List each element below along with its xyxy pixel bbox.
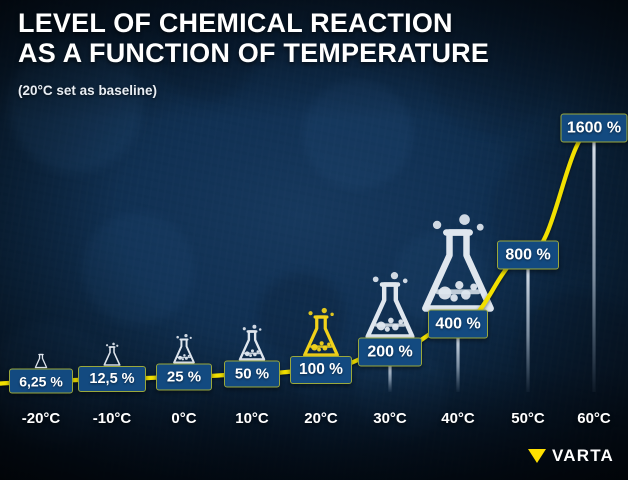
value-badge-label: 50 %	[235, 366, 269, 383]
flask-icon	[240, 325, 264, 360]
triangle-down-icon	[528, 449, 546, 463]
value-badge-label: 6,25 %	[19, 373, 63, 389]
brand-name: VARTA	[552, 446, 614, 466]
value-badge[interactable]: 400 %	[428, 310, 488, 339]
flask-icon	[104, 343, 119, 365]
axis-tick-label: -20°C	[22, 410, 61, 427]
value-badge-label: 100 %	[299, 361, 343, 379]
value-badge-label: 1600 %	[567, 119, 621, 137]
badge-stem	[592, 140, 595, 393]
badge-stem	[388, 364, 391, 393]
value-badge[interactable]: 100 %	[290, 356, 352, 384]
value-badge[interactable]: 25 %	[156, 364, 212, 391]
varta-logo[interactable]: VARTA	[528, 446, 614, 466]
axis-tick-label: 10°C	[235, 410, 269, 427]
value-badge[interactable]: 1600 %	[561, 114, 628, 143]
badge-stem	[456, 336, 459, 393]
flask-icon	[174, 334, 194, 363]
value-badge-label: 12,5 %	[89, 371, 134, 387]
value-badge-label: 400 %	[435, 315, 480, 333]
axis-tick-label: 60°C	[577, 410, 611, 427]
axis-tick-label: 40°C	[441, 410, 475, 427]
value-badge[interactable]: 12,5 %	[78, 366, 146, 392]
axis-tick-label: 20°C	[304, 410, 338, 427]
value-badge-label: 200 %	[367, 343, 412, 361]
value-badge[interactable]: 50 %	[224, 361, 280, 388]
infographic-root: LEVEL OF CHEMICAL REACTION AS A FUNCTION…	[0, 0, 628, 480]
axis-tick-label: 30°C	[373, 410, 407, 427]
axis-tick-label: 50°C	[511, 410, 545, 427]
value-badge-label: 25 %	[167, 369, 201, 386]
value-badge[interactable]: 800 %	[497, 241, 559, 270]
axis-tick-label: -10°C	[93, 410, 132, 427]
flask-icons-group	[35, 214, 490, 367]
flask-icon	[368, 272, 413, 336]
axis-tick-label: 0°C	[171, 410, 196, 427]
flask-icon	[35, 355, 46, 368]
value-badge-label: 800 %	[505, 246, 550, 264]
badge-stem	[526, 267, 529, 393]
flask-icon	[425, 214, 490, 308]
flask-icon	[305, 308, 338, 355]
value-badge[interactable]: 200 %	[358, 338, 422, 367]
value-badge[interactable]: 6,25 %	[9, 369, 73, 394]
